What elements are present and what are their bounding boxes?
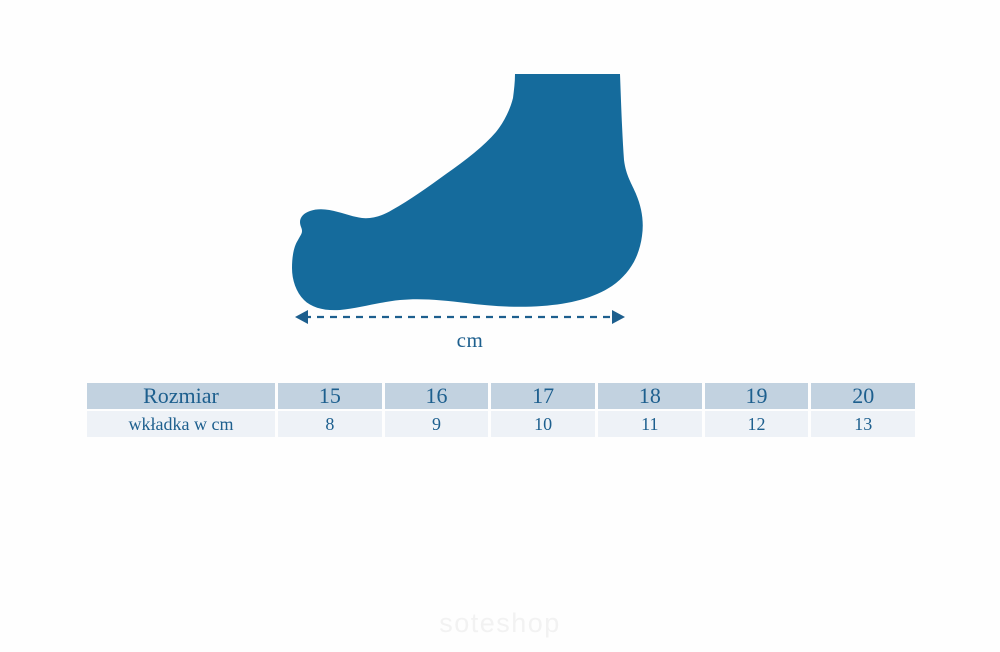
table-header-cell: 18 [598,383,702,409]
table-header-cell: 17 [491,383,595,409]
table-header-label: Rozmiar [87,383,275,409]
table-row: wkładka w cm 8 9 10 11 12 13 [87,411,915,437]
watermark-text: soteshop [0,608,1000,639]
table-row: Rozmiar 15 16 17 18 19 20 [87,383,915,409]
table-row-label: wkładka w cm [87,411,275,437]
table-data-cell: 12 [705,411,809,437]
size-table: Rozmiar 15 16 17 18 19 20 wkładka w cm 8… [87,383,915,437]
table-data-cell: 8 [278,411,382,437]
size-chart-page: cm Rozmiar 15 16 17 18 19 20 wkładka w c… [0,0,1000,652]
measurement-indicator: cm [280,300,660,356]
measurement-unit-label: cm [280,328,660,353]
foot-silhouette-icon [280,60,660,320]
table-data-cell: 11 [598,411,702,437]
table-header-cell: 19 [705,383,809,409]
table-header-cell: 20 [811,383,915,409]
table-data-cell: 13 [811,411,915,437]
table-data-cell: 9 [385,411,489,437]
table-header-cell: 15 [278,383,382,409]
foot-illustration [280,60,660,320]
table-data-cell: 10 [491,411,595,437]
double-arrow-icon [280,300,660,330]
table-header-cell: 16 [385,383,489,409]
